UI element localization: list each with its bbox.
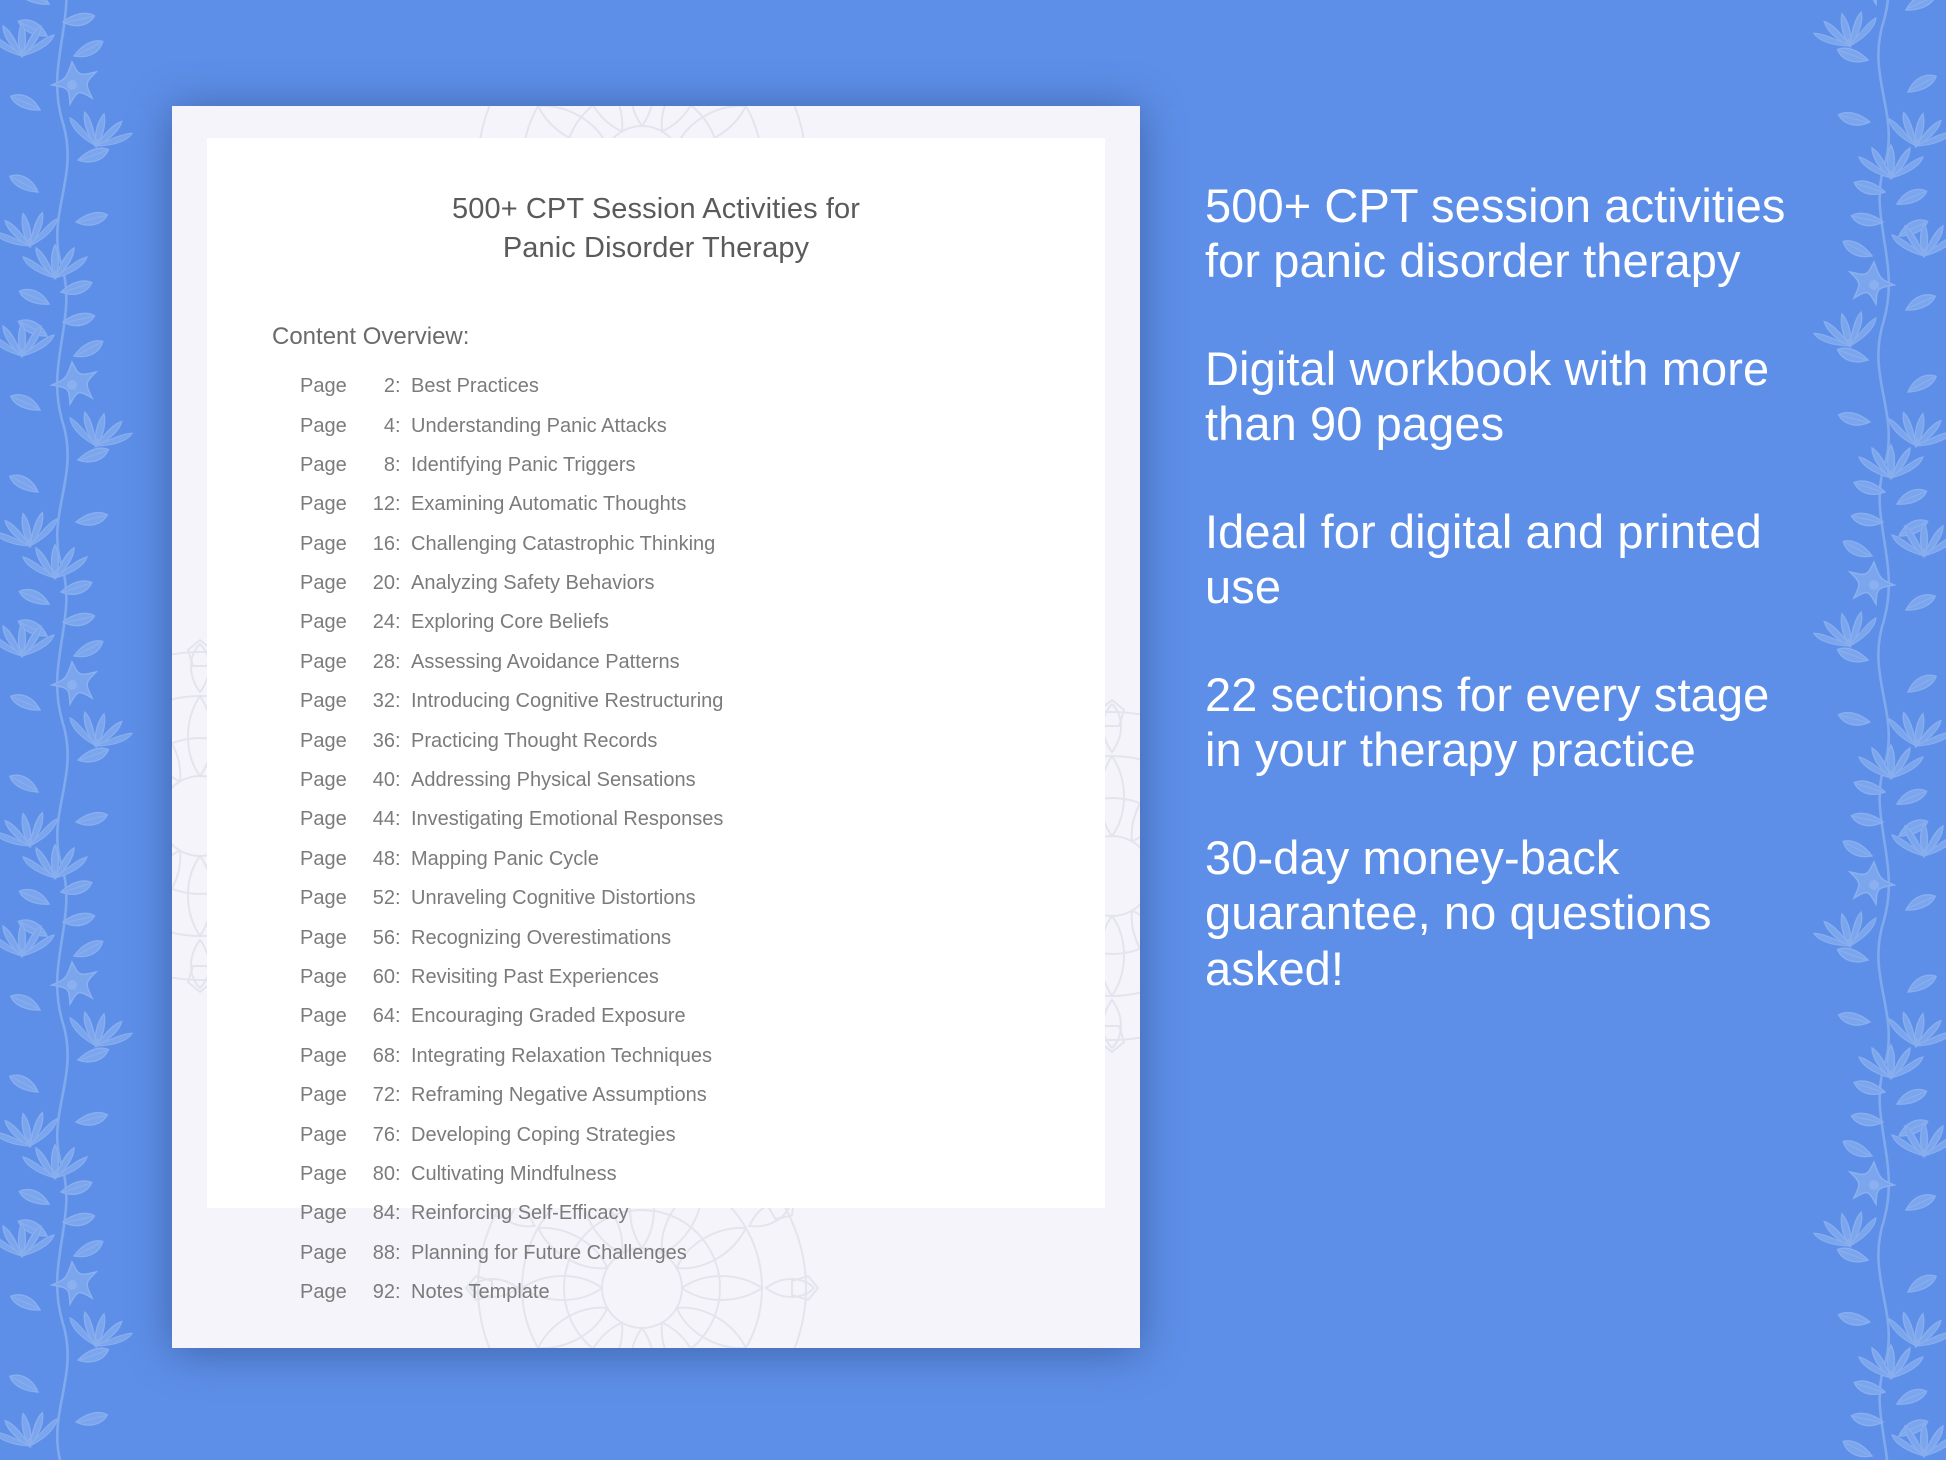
toc-page-number: 32 <box>357 691 395 711</box>
toc-colon: : <box>395 809 411 829</box>
toc-colon: : <box>395 1006 411 1026</box>
toc-entry-title: Developing Coping Strategies <box>411 1125 676 1145</box>
toc-colon: : <box>395 731 411 751</box>
toc-page-word: Page <box>300 731 357 751</box>
toc-page-number: 80 <box>357 1164 395 1184</box>
toc-page-number: 44 <box>357 809 395 829</box>
toc-entry-title: Recognizing Overestimations <box>411 928 671 948</box>
toc-entry-title: Identifying Panic Triggers <box>411 455 636 475</box>
toc-page-word: Page <box>300 573 357 593</box>
toc-entry[interactable]: Page52:Unraveling Cognitive Distortions <box>300 888 1105 908</box>
toc-entry-title: Notes Template <box>411 1282 550 1302</box>
document-card[interactable]: 500+ CPT Session Activities for Panic Di… <box>172 106 1140 1348</box>
document-page: 500+ CPT Session Activities for Panic Di… <box>207 138 1105 1208</box>
toc-page-word: Page <box>300 1085 357 1105</box>
toc-entry-title: Revisiting Past Experiences <box>411 967 659 987</box>
toc-entry[interactable]: Page48:Mapping Panic Cycle <box>300 849 1105 869</box>
toc-page-word: Page <box>300 1203 357 1223</box>
toc-page-number: 60 <box>357 967 395 987</box>
toc-page-number: 16 <box>357 534 395 554</box>
toc-page-number: 52 <box>357 888 395 908</box>
toc-colon: : <box>395 1203 411 1223</box>
toc-colon: : <box>395 494 411 514</box>
toc-entry-title: Assessing Avoidance Patterns <box>411 652 680 672</box>
toc-entry[interactable]: Page92:Notes Template <box>300 1282 1105 1302</box>
toc-page-word: Page <box>300 770 357 790</box>
toc-entry[interactable]: Page80:Cultivating Mindfulness <box>300 1164 1105 1184</box>
toc-page-word: Page <box>300 612 357 632</box>
toc-page-word: Page <box>300 1282 357 1302</box>
toc-page-word: Page <box>300 1125 357 1145</box>
toc-entry-title: Planning for Future Challenges <box>411 1243 687 1263</box>
toc-entry-title: Exploring Core Beliefs <box>411 612 609 632</box>
toc-page-number: 12 <box>357 494 395 514</box>
toc-page-number: 92 <box>357 1282 395 1302</box>
page-title-line-2: Panic Disorder Therapy <box>207 229 1105 268</box>
toc-page-number: 28 <box>357 652 395 672</box>
toc-page-number: 20 <box>357 573 395 593</box>
toc-colon: : <box>395 888 411 908</box>
marketing-bullet: Digital workbook with more than 90 pages <box>1205 341 1805 452</box>
floral-border-left <box>0 0 200 1460</box>
toc-page-word: Page <box>300 1046 357 1066</box>
page-title-line-1: 500+ CPT Session Activities for <box>207 190 1105 229</box>
toc-colon: : <box>395 1125 411 1145</box>
toc-page-number: 40 <box>357 770 395 790</box>
toc-entry[interactable]: Page88:Planning for Future Challenges <box>300 1243 1105 1263</box>
toc-entry[interactable]: Page72:Reframing Negative Assumptions <box>300 1085 1105 1105</box>
table-of-contents: Page2:Best PracticesPage4:Understanding … <box>300 376 1105 1302</box>
toc-entry[interactable]: Page84:Reinforcing Self-Efficacy <box>300 1203 1105 1223</box>
toc-colon: : <box>395 612 411 632</box>
toc-entry[interactable]: Page2:Best Practices <box>300 376 1105 396</box>
toc-colon: : <box>395 691 411 711</box>
toc-colon: : <box>395 1164 411 1184</box>
toc-entry[interactable]: Page36:Practicing Thought Records <box>300 731 1105 751</box>
toc-entry-title: Introducing Cognitive Restructuring <box>411 691 723 711</box>
toc-entry[interactable]: Page12:Examining Automatic Thoughts <box>300 494 1105 514</box>
toc-page-word: Page <box>300 849 357 869</box>
page-title: 500+ CPT Session Activities for Panic Di… <box>207 190 1105 267</box>
toc-colon: : <box>395 770 411 790</box>
toc-entry-title: Integrating Relaxation Techniques <box>411 1046 712 1066</box>
toc-page-word: Page <box>300 494 357 514</box>
toc-entry[interactable]: Page56:Recognizing Overestimations <box>300 928 1105 948</box>
toc-colon: : <box>395 376 411 396</box>
toc-page-word: Page <box>300 967 357 987</box>
toc-page-number: 64 <box>357 1006 395 1026</box>
toc-page-word: Page <box>300 455 357 475</box>
toc-entry-title: Investigating Emotional Responses <box>411 809 723 829</box>
marketing-copy: 500+ CPT session activities for panic di… <box>1205 178 1805 996</box>
marketing-bullet: 30-day money-back guarantee, no question… <box>1205 830 1805 996</box>
toc-entry-title: Examining Automatic Thoughts <box>411 494 686 514</box>
toc-page-word: Page <box>300 534 357 554</box>
toc-entry[interactable]: Page44:Investigating Emotional Responses <box>300 809 1105 829</box>
toc-page-number: 36 <box>357 731 395 751</box>
toc-colon: : <box>395 1085 411 1105</box>
toc-page-number: 72 <box>357 1085 395 1105</box>
toc-entry-title: Analyzing Safety Behaviors <box>411 573 654 593</box>
toc-entry-title: Practicing Thought Records <box>411 731 657 751</box>
toc-entry[interactable]: Page4:Understanding Panic Attacks <box>300 416 1105 436</box>
toc-colon: : <box>395 967 411 987</box>
toc-page-number: 8 <box>357 455 395 475</box>
toc-entry[interactable]: Page64:Encouraging Graded Exposure <box>300 1006 1105 1026</box>
toc-entry-title: Addressing Physical Sensations <box>411 770 696 790</box>
toc-colon: : <box>395 1243 411 1263</box>
toc-page-word: Page <box>300 1006 357 1026</box>
toc-entry[interactable]: Page40:Addressing Physical Sensations <box>300 770 1105 790</box>
toc-entry-title: Understanding Panic Attacks <box>411 416 667 436</box>
toc-entry-title: Mapping Panic Cycle <box>411 849 599 869</box>
toc-colon: : <box>395 573 411 593</box>
marketing-bullet: 22 sections for every stage in your ther… <box>1205 667 1805 778</box>
toc-entry-title: Encouraging Graded Exposure <box>411 1006 686 1026</box>
toc-entry[interactable]: Page20:Analyzing Safety Behaviors <box>300 573 1105 593</box>
toc-entry-title: Reinforcing Self-Efficacy <box>411 1203 629 1223</box>
toc-page-word: Page <box>300 652 357 672</box>
toc-entry[interactable]: Page76:Developing Coping Strategies <box>300 1125 1105 1145</box>
toc-entry-title: Best Practices <box>411 376 539 396</box>
marketing-bullet: 500+ CPT session activities for panic di… <box>1205 178 1805 289</box>
toc-colon: : <box>395 534 411 554</box>
toc-entry[interactable]: Page68:Integrating Relaxation Techniques <box>300 1046 1105 1066</box>
toc-page-word: Page <box>300 809 357 829</box>
toc-colon: : <box>395 1282 411 1302</box>
toc-entry[interactable]: Page32:Introducing Cognitive Restructuri… <box>300 691 1105 711</box>
toc-entry[interactable]: Page24:Exploring Core Beliefs <box>300 612 1105 632</box>
toc-colon: : <box>395 1046 411 1066</box>
toc-page-number: 56 <box>357 928 395 948</box>
toc-colon: : <box>395 652 411 672</box>
toc-colon: : <box>395 849 411 869</box>
toc-page-number: 84 <box>357 1203 395 1223</box>
toc-colon: : <box>395 416 411 436</box>
toc-page-word: Page <box>300 376 357 396</box>
toc-page-word: Page <box>300 928 357 948</box>
toc-entry[interactable]: Page60:Revisiting Past Experiences <box>300 967 1105 987</box>
toc-page-word: Page <box>300 1243 357 1263</box>
toc-entry-title: Cultivating Mindfulness <box>411 1164 617 1184</box>
toc-colon: : <box>395 455 411 475</box>
toc-page-number: 4 <box>357 416 395 436</box>
toc-page-number: 88 <box>357 1243 395 1263</box>
toc-page-number: 24 <box>357 612 395 632</box>
toc-page-number: 76 <box>357 1125 395 1145</box>
toc-page-number: 48 <box>357 849 395 869</box>
marketing-bullet: Ideal for digital and printed use <box>1205 504 1805 615</box>
content-overview-label: Content Overview: <box>272 323 1105 351</box>
toc-page-word: Page <box>300 416 357 436</box>
floral-vine-icon <box>0 0 200 1460</box>
toc-entry-title: Challenging Catastrophic Thinking <box>411 534 715 554</box>
toc-page-word: Page <box>300 1164 357 1184</box>
toc-page-word: Page <box>300 888 357 908</box>
toc-entry[interactable]: Page28:Assessing Avoidance Patterns <box>300 652 1105 672</box>
toc-entry[interactable]: Page16:Challenging Catastrophic Thinking <box>300 534 1105 554</box>
toc-colon: : <box>395 928 411 948</box>
toc-entry-title: Reframing Negative Assumptions <box>411 1085 707 1105</box>
toc-entry-title: Unraveling Cognitive Distortions <box>411 888 696 908</box>
toc-page-word: Page <box>300 691 357 711</box>
toc-page-number: 68 <box>357 1046 395 1066</box>
toc-entry[interactable]: Page8:Identifying Panic Triggers <box>300 455 1105 475</box>
toc-page-number: 2 <box>357 376 395 396</box>
